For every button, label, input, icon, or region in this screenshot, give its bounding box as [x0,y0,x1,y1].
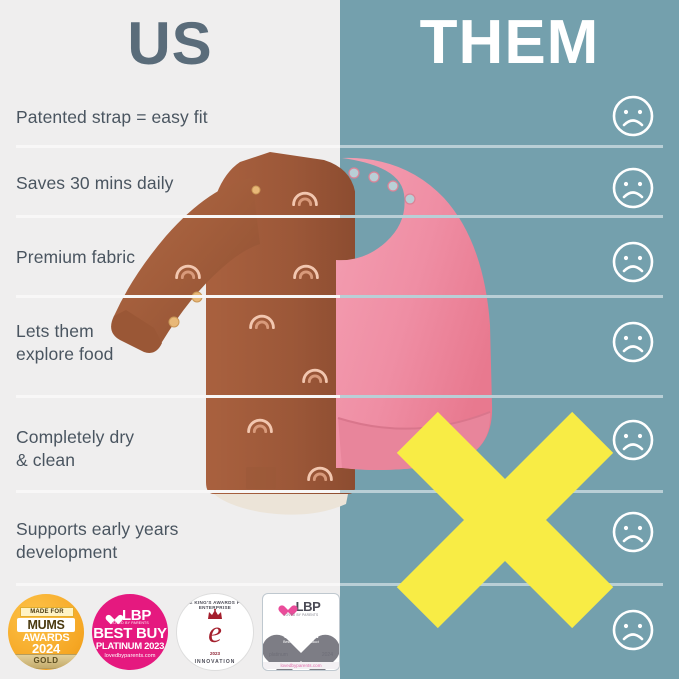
heart-icon [282,601,294,612]
divider-rule [16,395,663,398]
benefit-item: Supports early years development [16,518,316,564]
benefit-item: Patented strap = easy fit [16,106,316,129]
lbp-winner-platinum-badge: LBP LOVED BY PARENTS WINNER Best Weaning… [262,593,340,671]
sad-face-icon [611,608,655,652]
yellow-cross-icon [400,415,610,625]
badge-line2: PLATINUM 2023 [92,641,168,652]
divider-rule [16,295,663,298]
badge-made-for-label: MADE FOR [20,607,74,617]
benefit-item: Saves 30 mins daily [16,172,316,195]
sad-face-icon [611,418,655,462]
badge-brand-label: MUMS [17,618,75,632]
benefit-item: Premium fabric [16,246,316,269]
badge-line1: BEST BUY [92,625,168,642]
benefit-item: Completely dry & clean [16,426,316,472]
sad-face-icon [611,320,655,364]
kings-awards-for-enterprise-badge: THE KING'S AWARDS FOR ENTERPRISE e 2023 … [176,593,254,671]
badge-brand-row: LBP [263,600,339,614]
award-badges: MADE FOR MUMS AWARDS 2024 GOLD LBP LOVED… [8,592,338,672]
heart-icon [109,611,120,621]
benefit-item: Lets them explore food [16,320,316,366]
sad-face-icon [611,166,655,210]
badge-tier-label: platinum [269,652,288,658]
made-for-mums-awards-badge: MADE FOR MUMS AWARDS 2024 GOLD [8,594,84,670]
badge-year-label: 2024 [322,652,333,658]
badge-url: lovedbyparents.com [263,662,339,669]
badge-winner-sub: Best Weaning Product [263,640,339,644]
sad-face-icon [611,94,655,138]
lbp-best-buy-badge: LBP LOVED BY PARENTS BEST BUY PLATINUM 2… [92,594,168,670]
divider-rule [16,215,663,218]
badge-emblem: e [177,616,253,648]
badge-tier-label: GOLD [8,655,84,666]
sad-face-icon [611,510,655,554]
page-title-them: THEM [340,12,679,74]
badge-arc-bottom-label: INNOVATION [177,659,253,665]
comparison-infographic: US THEM Patented strap = easy fit Saves … [0,0,679,679]
badge-url: lovedbyparents.com [92,653,168,659]
badge-year-label: 2023 [177,651,253,656]
badge-brand-label: LBP [296,599,321,614]
sad-face-icon [611,240,655,284]
divider-rule [16,145,663,148]
page-title-us: US [0,14,340,74]
badge-winner-label: WINNER [263,630,339,640]
